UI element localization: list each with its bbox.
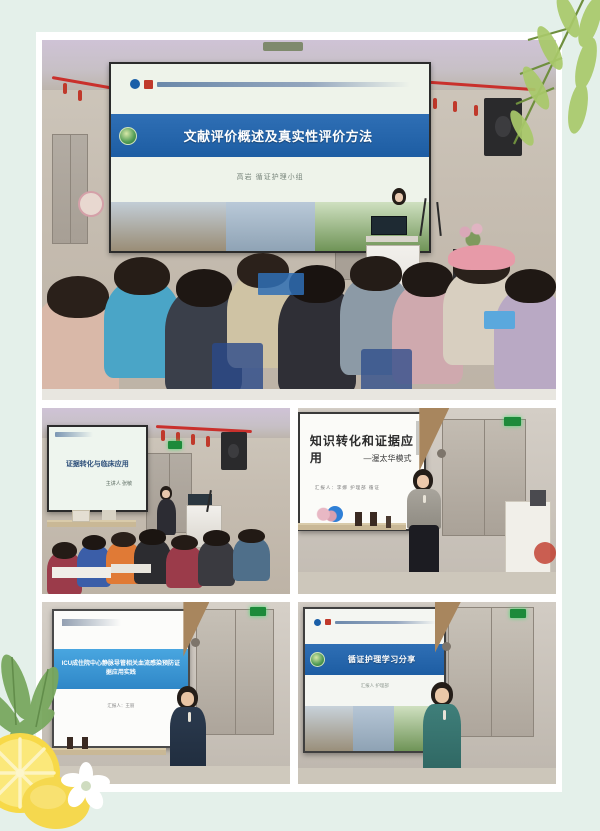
photo-row2-left[interactable]: 证据转化与临床应用 主讲人 张敏 xyxy=(42,408,290,594)
slide-org-text xyxy=(62,619,121,626)
slide-seal-icon xyxy=(119,127,137,145)
pink-hat xyxy=(448,245,515,270)
slide-seal-icon xyxy=(310,652,325,667)
slide-org-text xyxy=(157,82,410,87)
photo-row3-left[interactable]: ICU成住院中心静脉导管相关血流感染预防证据应用实践 汇报人：王丽 xyxy=(42,602,290,784)
slide-logo-icon xyxy=(130,79,140,89)
wall-speaker-icon xyxy=(221,432,247,470)
projection-screen: ICU成住院中心静脉导管相关血流感染预防证据应用实践 汇报人：王丽 xyxy=(52,609,190,748)
photo-row2-right[interactable]: 知识转化和证据应用 —渥太华模式 汇报人：李娜 护理部 循证 xyxy=(298,408,556,594)
shelf xyxy=(47,748,166,755)
slide-banner-text: 证据转化与临床应用 xyxy=(57,459,138,469)
projector-icon xyxy=(263,42,303,51)
photo-row3-right[interactable]: 循证护理学习分享 汇报人 护理部 xyxy=(298,602,556,784)
slide-subtitle: 主讲人 张敏 xyxy=(49,480,132,487)
flower-arrangement xyxy=(313,507,339,525)
microphone-icon xyxy=(443,710,446,720)
exit-sign-icon xyxy=(250,607,266,616)
phone-screen xyxy=(484,311,515,328)
laptop-screen xyxy=(258,273,304,295)
exit-sign-icon xyxy=(168,441,182,449)
photo-main-lecture-hall[interactable]: 文献评价概述及真实性评价方法 高岩 循证护理小组 xyxy=(42,40,556,400)
microphone-icon xyxy=(188,712,191,722)
podium-monitor xyxy=(371,216,407,235)
slide-subtitle: 高岩 循证护理小组 xyxy=(111,172,430,182)
slide-org-text xyxy=(55,432,94,437)
slide-logo-mark-icon xyxy=(144,80,153,89)
collage-page: 文献评价概述及真实性评价方法 高岩 循证护理小组 xyxy=(0,0,600,821)
projection-screen: 证据转化与临床应用 主讲人 张敏 xyxy=(47,425,148,513)
slide-banner: 文献评价概述及真实性评价方法 xyxy=(111,114,430,157)
exit-sign-icon xyxy=(510,609,526,618)
slide-banner-text: 文献评价概述及真实性评价方法 xyxy=(137,126,430,145)
slide-subtitle: —渥太华模式 xyxy=(300,453,411,464)
slide-subtitle: 汇报人：王丽 xyxy=(54,703,188,709)
exit-sign-icon xyxy=(504,417,521,426)
slide-subtitle: 汇报人 护理部 xyxy=(305,683,444,689)
slide-banner-text: ICU成住院中心静脉导管相关血流感染预防证据应用实践 xyxy=(60,660,182,678)
side-table xyxy=(505,501,551,577)
microphone-icon xyxy=(423,495,426,503)
slide-org-text xyxy=(335,621,437,624)
slide-logo-icon xyxy=(314,619,321,626)
slide-org-text: 汇报人：李娜 护理部 循证 xyxy=(315,485,380,491)
wall-speaker-icon xyxy=(484,98,522,156)
slide-banner-text: 循证护理学习分享 xyxy=(325,654,444,665)
slide-logo-mark-icon xyxy=(325,619,331,625)
photo-collage-card: 文献评价概述及真实性评价方法 高岩 循证护理小组 xyxy=(36,32,562,792)
